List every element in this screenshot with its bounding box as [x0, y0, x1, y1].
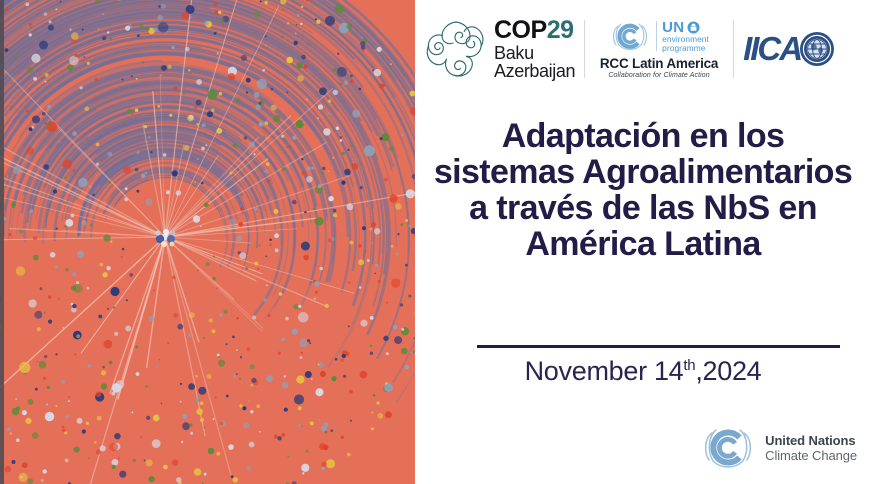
- rcc-top-row: UN environment programme: [609, 19, 709, 53]
- title-divider: [477, 345, 840, 348]
- date-suffix: ,2024: [695, 356, 761, 386]
- date-ordinal: th: [683, 357, 695, 374]
- presentation-slide: COP29 Baku Azerbaijan: [0, 0, 871, 484]
- iica-wordmark: IICA: [743, 30, 801, 68]
- panel-left-edge: [0, 0, 4, 484]
- logo-divider: [584, 20, 585, 78]
- event-date: November 14th,2024: [433, 356, 853, 387]
- logo-divider-2: [733, 20, 734, 78]
- cop29-wordmark: COP29 Baku Azerbaijan: [494, 18, 575, 80]
- un-climate-change-logo: United Nations Climate Change: [700, 424, 857, 472]
- unfccc-emblem-icon: [609, 19, 651, 53]
- cop29-city: Baku: [494, 44, 575, 62]
- date-prefix: November 14: [525, 356, 684, 386]
- logo-strip: COP29 Baku Azerbaijan: [415, 8, 871, 90]
- un-line2: Climate Change: [765, 448, 857, 463]
- rcc-latin-america-logo: UN environment programme RCC Latin Ameri…: [594, 19, 724, 79]
- rcc-tagline: Collaboration for Climate Action: [608, 72, 709, 79]
- cop29-country: Azerbaijan: [494, 62, 575, 80]
- cop29-logo: COP29 Baku Azerbaijan: [425, 18, 575, 80]
- rcc-inner-divider: [656, 21, 657, 51]
- unep-lockup: UN environment programme: [662, 20, 709, 52]
- cop29-emblem-icon: [425, 18, 487, 80]
- cop29-title: COP29: [494, 18, 575, 43]
- radial-network-artwork: [0, 0, 415, 484]
- content-panel: COP29 Baku Azerbaijan: [415, 0, 871, 484]
- un-climate-change-wordmark: United Nations Climate Change: [765, 433, 857, 464]
- unep-un-row: UN: [662, 20, 709, 35]
- iica-logo: IICA: [743, 30, 835, 68]
- network-graph-svg: [0, 0, 415, 484]
- unfccc-emblem-icon: [700, 424, 756, 472]
- page-title: Adaptación en los sistemas Agroalimentar…: [433, 118, 853, 262]
- unep-globe-icon: [687, 21, 700, 34]
- unep-line2: programme: [662, 44, 709, 52]
- un-line1: United Nations: [765, 433, 857, 448]
- iica-seal-icon: [799, 31, 835, 67]
- rcc-title: RCC Latin America: [600, 56, 718, 71]
- unep-un-text: UN: [662, 20, 684, 35]
